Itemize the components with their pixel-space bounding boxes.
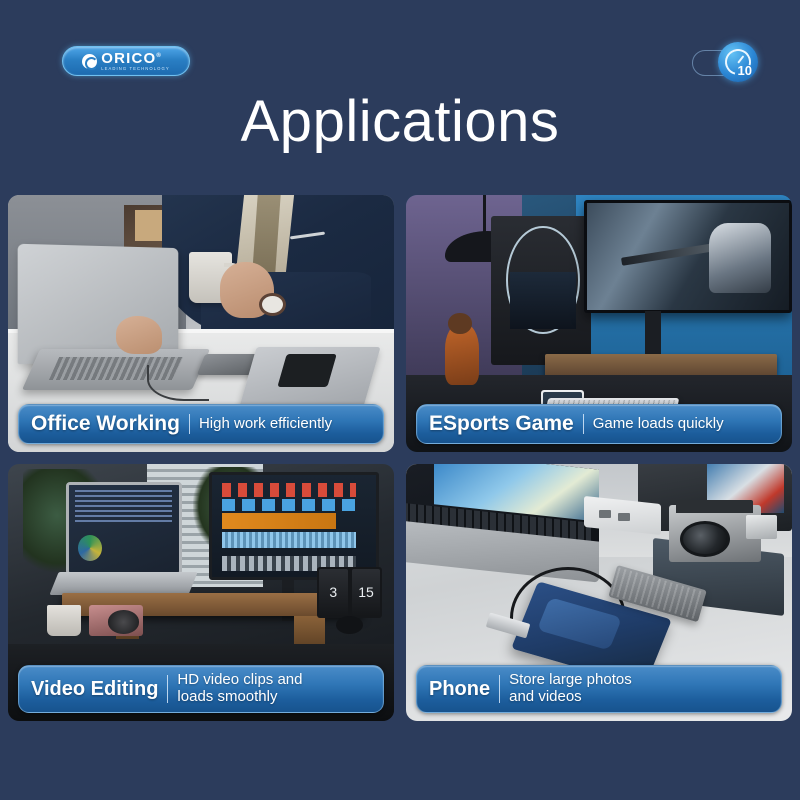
caption-subtitle: HD video clips and loads smoothly <box>177 672 302 706</box>
speed-badge-value: 10 <box>738 64 752 77</box>
speed-badge: 10 <box>692 42 768 82</box>
power-socket-two <box>618 513 630 521</box>
panel-phone[interactable]: Phone Store large photos and videos <box>406 464 792 721</box>
caption-subtitle: Store large photos and videos <box>509 672 632 706</box>
caption-subtitle: High work efficiently <box>199 416 332 433</box>
panel-esports-game[interactable]: ESports Game Game loads quickly <box>406 195 792 452</box>
gaming-monitor <box>584 200 792 313</box>
caption-title: Video Editing <box>31 678 158 701</box>
laptop-keyboard-base <box>50 572 198 595</box>
desk-lamp-arm <box>483 195 486 236</box>
flip-clock-base <box>336 616 363 634</box>
flip-clock-minutes: 15 <box>352 569 381 616</box>
orico-logo-mark-icon <box>82 54 97 69</box>
smartphone-screen <box>536 596 622 650</box>
timeline-track-red <box>222 483 356 497</box>
timeline-track-blue <box>222 499 356 511</box>
brand-name: ORICO® <box>101 51 162 66</box>
camera-top-plate <box>676 500 753 513</box>
applications-grid: Office Working High work efficiently <box>8 195 792 725</box>
caption-separator <box>583 414 584 434</box>
applications-page: ORICO® LEADING TECHNOLOGY 10 Application… <box>0 0 800 800</box>
flip-clock-hours: 3 <box>319 569 348 616</box>
camera-viewfinder <box>746 515 777 538</box>
editing-camera-lens <box>108 610 139 633</box>
flip-clock: 3 15 <box>317 567 383 618</box>
caption-separator <box>189 414 190 434</box>
caption-phone: Phone Store large photos and videos <box>416 665 782 713</box>
wrist-watch <box>259 293 286 316</box>
editing-mug <box>47 605 82 636</box>
laptop-color-wheel <box>78 535 102 561</box>
monitor-stand <box>645 311 660 357</box>
page-title: Applications <box>0 88 800 155</box>
collectible-figure-head <box>448 313 471 334</box>
caption-separator <box>499 675 500 703</box>
brand-tagline: LEADING TECHNOLOGY <box>101 67 170 71</box>
editing-laptop <box>66 482 182 575</box>
caption-esports-game: ESports Game Game loads quickly <box>416 404 782 444</box>
editing-monitor <box>209 472 379 580</box>
caption-title: Office Working <box>31 412 180 436</box>
panel-office-working[interactable]: Office Working High work efficiently <box>8 195 394 452</box>
power-socket-one <box>599 510 611 518</box>
camera-lens <box>680 521 730 557</box>
caption-title: Phone <box>429 678 490 701</box>
orico-logo-text: ORICO® LEADING TECHNOLOGY <box>101 51 170 71</box>
panel-video-editing[interactable]: 3 15 Video Editing HD video clips and lo… <box>8 464 394 721</box>
orico-logo: ORICO® LEADING TECHNOLOGY <box>62 46 190 76</box>
caption-video-editing: Video Editing HD video clips and loads s… <box>18 665 384 713</box>
caption-office-working: Office Working High work efficiently <box>18 404 384 444</box>
businessman-typing-hand <box>116 316 162 355</box>
speed-gauge-icon: 10 <box>725 49 751 75</box>
caption-separator <box>167 675 168 703</box>
caption-title: ESports Game <box>429 412 574 436</box>
timeline-track-orange <box>222 513 337 528</box>
laptop-editing-timeline <box>75 490 172 525</box>
timeline-waveform <box>222 532 356 548</box>
caption-subtitle: Game loads quickly <box>593 416 724 433</box>
pc-case-artwork <box>510 272 576 329</box>
game-character <box>709 223 772 293</box>
office-smartphone <box>277 354 337 387</box>
speed-badge-circle: 10 <box>718 42 758 82</box>
brand-trademark: ® <box>156 53 162 59</box>
